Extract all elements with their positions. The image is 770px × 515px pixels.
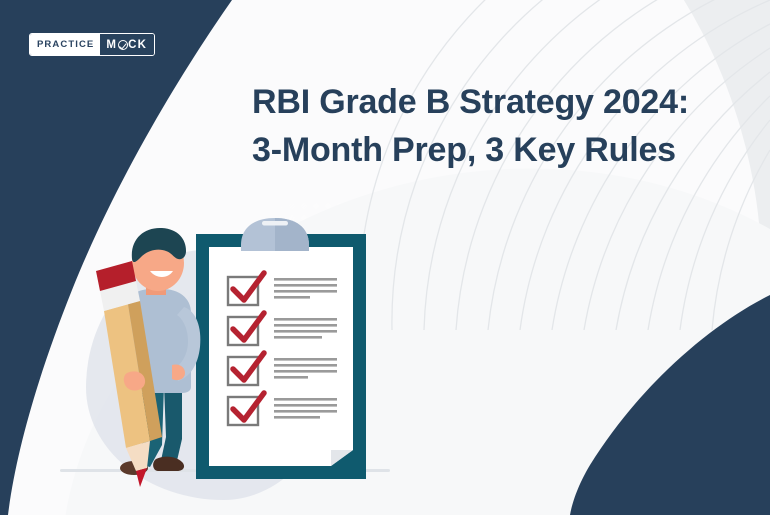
logo-text-mock: M CK (100, 34, 154, 55)
banner-root: PRACTICE M CK RBI Grade B Strategy 2024:… (0, 0, 770, 515)
page-title: RBI Grade B Strategy 2024: 3-Month Prep,… (252, 78, 722, 174)
navy-shape-bottom-right (570, 255, 770, 515)
check-circle-icon (118, 40, 128, 50)
character (96, 228, 200, 487)
logo-mock-m: M (106, 39, 117, 51)
logo-mock-ck: CK (128, 39, 147, 51)
illustration (78, 215, 398, 515)
page-title-line-1: RBI Grade B Strategy 2024: (252, 78, 722, 126)
clipboard (196, 218, 366, 479)
logo-text-practice: PRACTICE (30, 34, 100, 55)
page-title-line-2: 3-Month Prep, 3 Key Rules (252, 126, 722, 174)
practicemock-logo[interactable]: PRACTICE M CK (29, 33, 155, 56)
